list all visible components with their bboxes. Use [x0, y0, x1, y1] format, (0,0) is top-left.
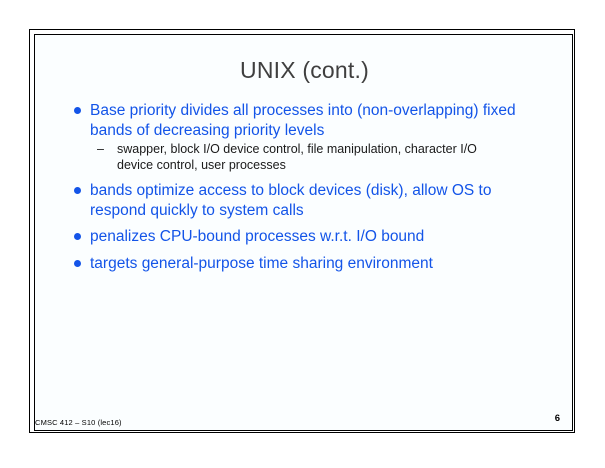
disc-bullet-icon	[74, 187, 81, 194]
list-item: penalizes CPU-bound processes w.r.t. I/O…	[35, 227, 574, 247]
disc-bullet-icon	[74, 233, 81, 240]
disc-bullet-icon	[74, 107, 81, 114]
list-item: – swapper, block I/O device control, fil…	[35, 142, 574, 173]
en-dash-bullet-icon: –	[97, 142, 104, 158]
page-number: 6	[555, 413, 560, 424]
slide-canvas: UNIX (cont.) Base priority divides all p…	[0, 0, 605, 468]
list-item-label: Base priority divides all processes into…	[90, 102, 516, 139]
slide-inner-frame: UNIX (cont.) Base priority divides all p…	[34, 34, 573, 431]
list-item-label: penalizes CPU-bound processes w.r.t. I/O…	[90, 228, 424, 245]
page-title: UNIX (cont.)	[35, 57, 574, 84]
bullet-list: Base priority divides all processes into…	[35, 101, 574, 275]
disc-bullet-icon	[74, 260, 81, 267]
list-item-label: bands optimize access to block devices (…	[90, 182, 491, 219]
list-item: targets general-purpose time sharing env…	[35, 254, 574, 274]
list-item: bands optimize access to block devices (…	[35, 181, 574, 220]
list-item-label: swapper, block I/O device control, file …	[117, 142, 477, 172]
footer-course-reference: CMSC 412 – S10 (lec16)	[35, 418, 122, 427]
list-item-label: targets general-purpose time sharing env…	[90, 255, 433, 272]
list-item: Base priority divides all processes into…	[35, 101, 574, 140]
